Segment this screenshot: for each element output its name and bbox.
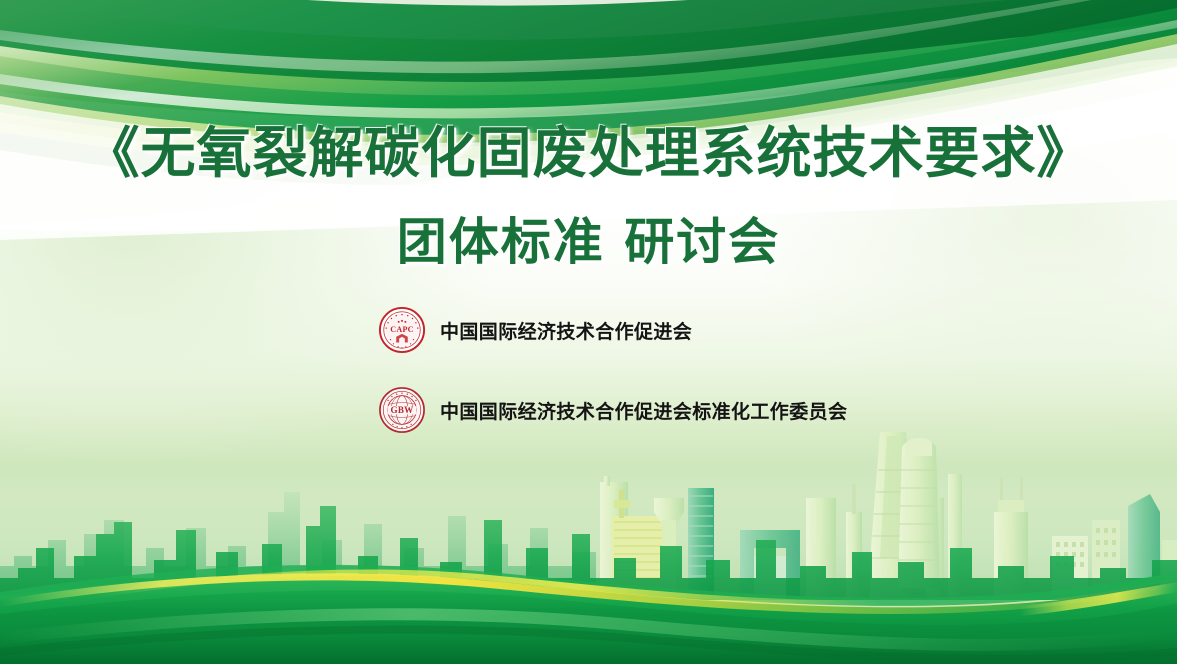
organization-row-capc: CAPC 中国国际经济技术合作促进会 xyxy=(378,306,692,354)
page-subtitle: 团体标准 研讨会 xyxy=(0,202,1177,274)
title-slide: 《无氧裂解碳化固废处理系统技术要求》 团体标准 研讨会 xyxy=(0,0,1177,664)
organization-row-gbw: GBW 中国国际经济技术合作促进会标准化工作委员会 xyxy=(378,386,847,434)
organization-label-capc: 中国国际经济技术合作促进会 xyxy=(440,317,692,344)
svg-text:CAPC: CAPC xyxy=(390,325,414,334)
capc-seal-icon: CAPC xyxy=(378,306,426,354)
svg-text:GBW: GBW xyxy=(391,405,414,415)
organization-label-gbw: 中国国际经济技术合作促进会标准化工作委员会 xyxy=(440,397,847,424)
gbw-seal-icon: GBW xyxy=(378,386,426,434)
page-title: 《无氧裂解碳化固废处理系统技术要求》 xyxy=(0,108,1177,188)
